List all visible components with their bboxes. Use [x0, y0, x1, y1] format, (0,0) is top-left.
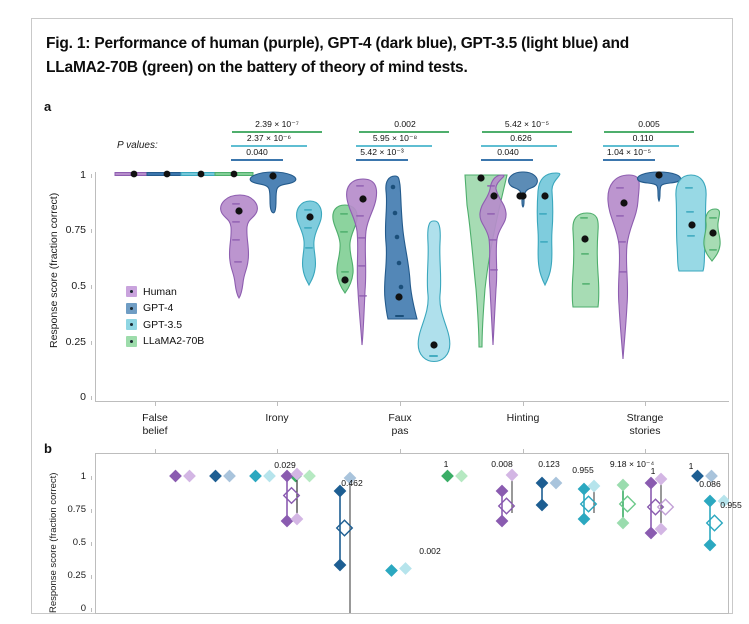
caption-line-2: LLaMA2-70B (green) on the battery of the…	[46, 56, 686, 80]
panel-a-xtick-faux-pas: Faux pas	[350, 412, 450, 438]
xtick-line-2: pas	[350, 425, 450, 438]
panel-a-xtick-mark	[277, 401, 278, 406]
caption-line-1: Fig. 1: Performance of human (purple), G…	[46, 32, 686, 56]
panel-a-ytick-label: 0.5	[52, 280, 86, 292]
xtick-line-2: belief	[105, 425, 205, 438]
pvalue-fauxpas-darkblue: 5.42 × 10⁻³	[334, 147, 430, 158]
pair-fauxpas-gpt35	[578, 480, 601, 526]
pair-irony-gpt35	[385, 562, 412, 577]
panel-b-ytick-mark	[91, 476, 92, 480]
legend-item-llama: LLaMA2-70B	[126, 335, 204, 348]
panel-b-pvalue-11: 0.086	[685, 479, 735, 489]
pair-false-belief-gpt4	[209, 470, 236, 483]
pvalue-hinting-darkblue: 0.040	[465, 147, 551, 157]
p-values-title-text: P values:	[117, 140, 158, 151]
panel-a-ytick-mark	[91, 174, 92, 178]
panel-a-xtick-false-belief: False belief	[105, 412, 205, 438]
pvalue-strange-darkblue: 1.04 × 10⁻⁵	[581, 147, 677, 158]
panel-a-ytick-mark	[91, 341, 92, 345]
pair-false-belief-human	[169, 470, 196, 483]
panel-b-ytick-label: 0.75	[56, 504, 86, 515]
panel-a-xtick-mark	[523, 401, 524, 406]
panel-b-pvalue-2: 0.462	[327, 478, 377, 488]
pvalue-fauxpas-green: 0.002	[352, 119, 458, 129]
legend-swatch-gpt35	[126, 319, 137, 330]
panel-a-xtick-mark	[155, 401, 156, 406]
pair-false-belief-gpt35	[249, 470, 276, 483]
violin-group-false-belief	[115, 171, 253, 178]
panel-b-pvalue-9: 1	[638, 466, 668, 476]
panel-a-letter: a	[44, 99, 51, 114]
pair-fauxpas-gpt4	[536, 477, 563, 512]
panel-a-xtick-irony: Irony	[227, 412, 327, 425]
panel-b-ytick-mark	[91, 575, 92, 579]
pvalue-strange-lightblue: 0.110	[593, 133, 693, 143]
violin-group-irony	[221, 172, 357, 298]
pvalue-irony-lightblue: 2.37 × 10⁻⁶	[219, 133, 319, 144]
figure-page: Fig. 1: Performance of human (purple), G…	[0, 0, 749, 624]
panel-a-legend: Human GPT-4 GPT-3.5 LLaMA2-70B	[126, 285, 204, 351]
panel-a-xtick-mark	[400, 401, 401, 406]
legend-label-gpt35: GPT-3.5	[143, 319, 182, 331]
panel-b-plot-bottom	[95, 613, 729, 614]
panel-b-ytick-label: 0.25	[56, 570, 86, 581]
xtick-line-2: stories	[595, 425, 695, 438]
legend-item-gpt35: GPT-3.5	[126, 318, 204, 331]
panel-a-ytick-mark	[91, 285, 92, 289]
pvalue-strange-green: 0.005	[596, 119, 702, 129]
pair-fauxpas-llama	[441, 470, 468, 483]
panel-a-violins	[95, 165, 729, 401]
pair-irony-gpt4	[334, 472, 357, 613]
panel-b-pvalue-1: 0.029	[260, 460, 310, 470]
xtick-line-1: Hinting	[473, 412, 573, 425]
legend-label-gpt4: GPT-4	[143, 302, 173, 314]
violin-group-hinting	[480, 172, 599, 345]
panel-a-xtick-strange-stories: Strange stories	[595, 412, 695, 438]
pair-fauxpas-human	[496, 469, 519, 528]
violin-group-faux-pas	[347, 174, 507, 361]
panel-b-pvalue-5: 0.008	[477, 459, 527, 469]
pvalue-bar-darkblue	[231, 159, 283, 161]
panel-a-ytick-label: 0	[52, 391, 86, 403]
panel-b-pvalue-4: 1	[431, 459, 461, 469]
pvalue-bar-darkblue	[481, 159, 533, 161]
panel-a-ytick-mark	[91, 396, 92, 400]
panel-b-ytick-label: 0.5	[56, 537, 86, 548]
panel-a-ylabel: Response score (fraction correct)	[48, 193, 60, 348]
xtick-line-1: False	[105, 412, 205, 425]
panel-b-pvalue-10: 1	[676, 461, 706, 471]
panel-a-ytick-mark	[91, 229, 92, 233]
panel-b-ytick-mark	[91, 542, 92, 546]
xtick-line-1: Irony	[227, 412, 327, 425]
violin-group-strange-stories	[608, 171, 720, 359]
panel-a-x-axis	[95, 401, 729, 402]
pvalue-hinting-green: 5.42 × 10⁻⁵	[474, 119, 580, 130]
pvalue-irony-green: 2.39 × 10⁻⁷	[224, 119, 330, 130]
figure-caption: Fig. 1: Performance of human (purple), G…	[46, 32, 686, 80]
pvalue-bar-darkblue	[603, 159, 655, 161]
legend-swatch-llama	[126, 336, 137, 347]
pair-hinting-human	[645, 473, 674, 540]
panel-b-ytick-label: 1	[56, 471, 86, 482]
xtick-line-1: Strange	[595, 412, 695, 425]
pvalue-fauxpas-lightblue: 5.95 × 10⁻⁸	[345, 133, 445, 144]
panel-a-ytick-label: 0.75	[52, 224, 86, 236]
pvalue-bar-darkblue	[356, 159, 408, 161]
legend-item-gpt4: GPT-4	[126, 302, 204, 315]
pair-fauxpas-llama-2	[617, 479, 636, 530]
panel-a-ytick-label: 1	[52, 169, 86, 181]
legend-swatch-human	[126, 286, 137, 297]
panel-b-ytick-mark	[91, 509, 92, 513]
panel-b-pvalue-3: 0.002	[405, 546, 455, 556]
panel-a-ytick-label: 0.25	[52, 336, 86, 348]
panel-b-ytick-mark	[91, 608, 92, 612]
legend-item-human: Human	[126, 285, 204, 298]
pvalue-hinting-lightblue: 0.626	[471, 133, 571, 143]
legend-swatch-gpt4	[126, 303, 137, 314]
pvalue-irony-darkblue: 0.040	[214, 147, 300, 157]
panel-b-ytick-label: 0	[56, 603, 86, 614]
legend-label-llama: LLaMA2-70B	[143, 335, 204, 347]
legend-label-human: Human	[143, 286, 177, 298]
panel-b-pvalue-12: 0.955	[706, 500, 749, 510]
panel-b-pairs	[95, 453, 729, 613]
panel-b-letter: b	[44, 441, 52, 456]
panel-a-xtick-mark	[645, 401, 646, 406]
pair-irony-human	[281, 468, 304, 528]
panel-a-xtick-hinting: Hinting	[473, 412, 573, 425]
xtick-line-1: Faux	[350, 412, 450, 425]
p-values-title: P values:	[117, 140, 158, 151]
